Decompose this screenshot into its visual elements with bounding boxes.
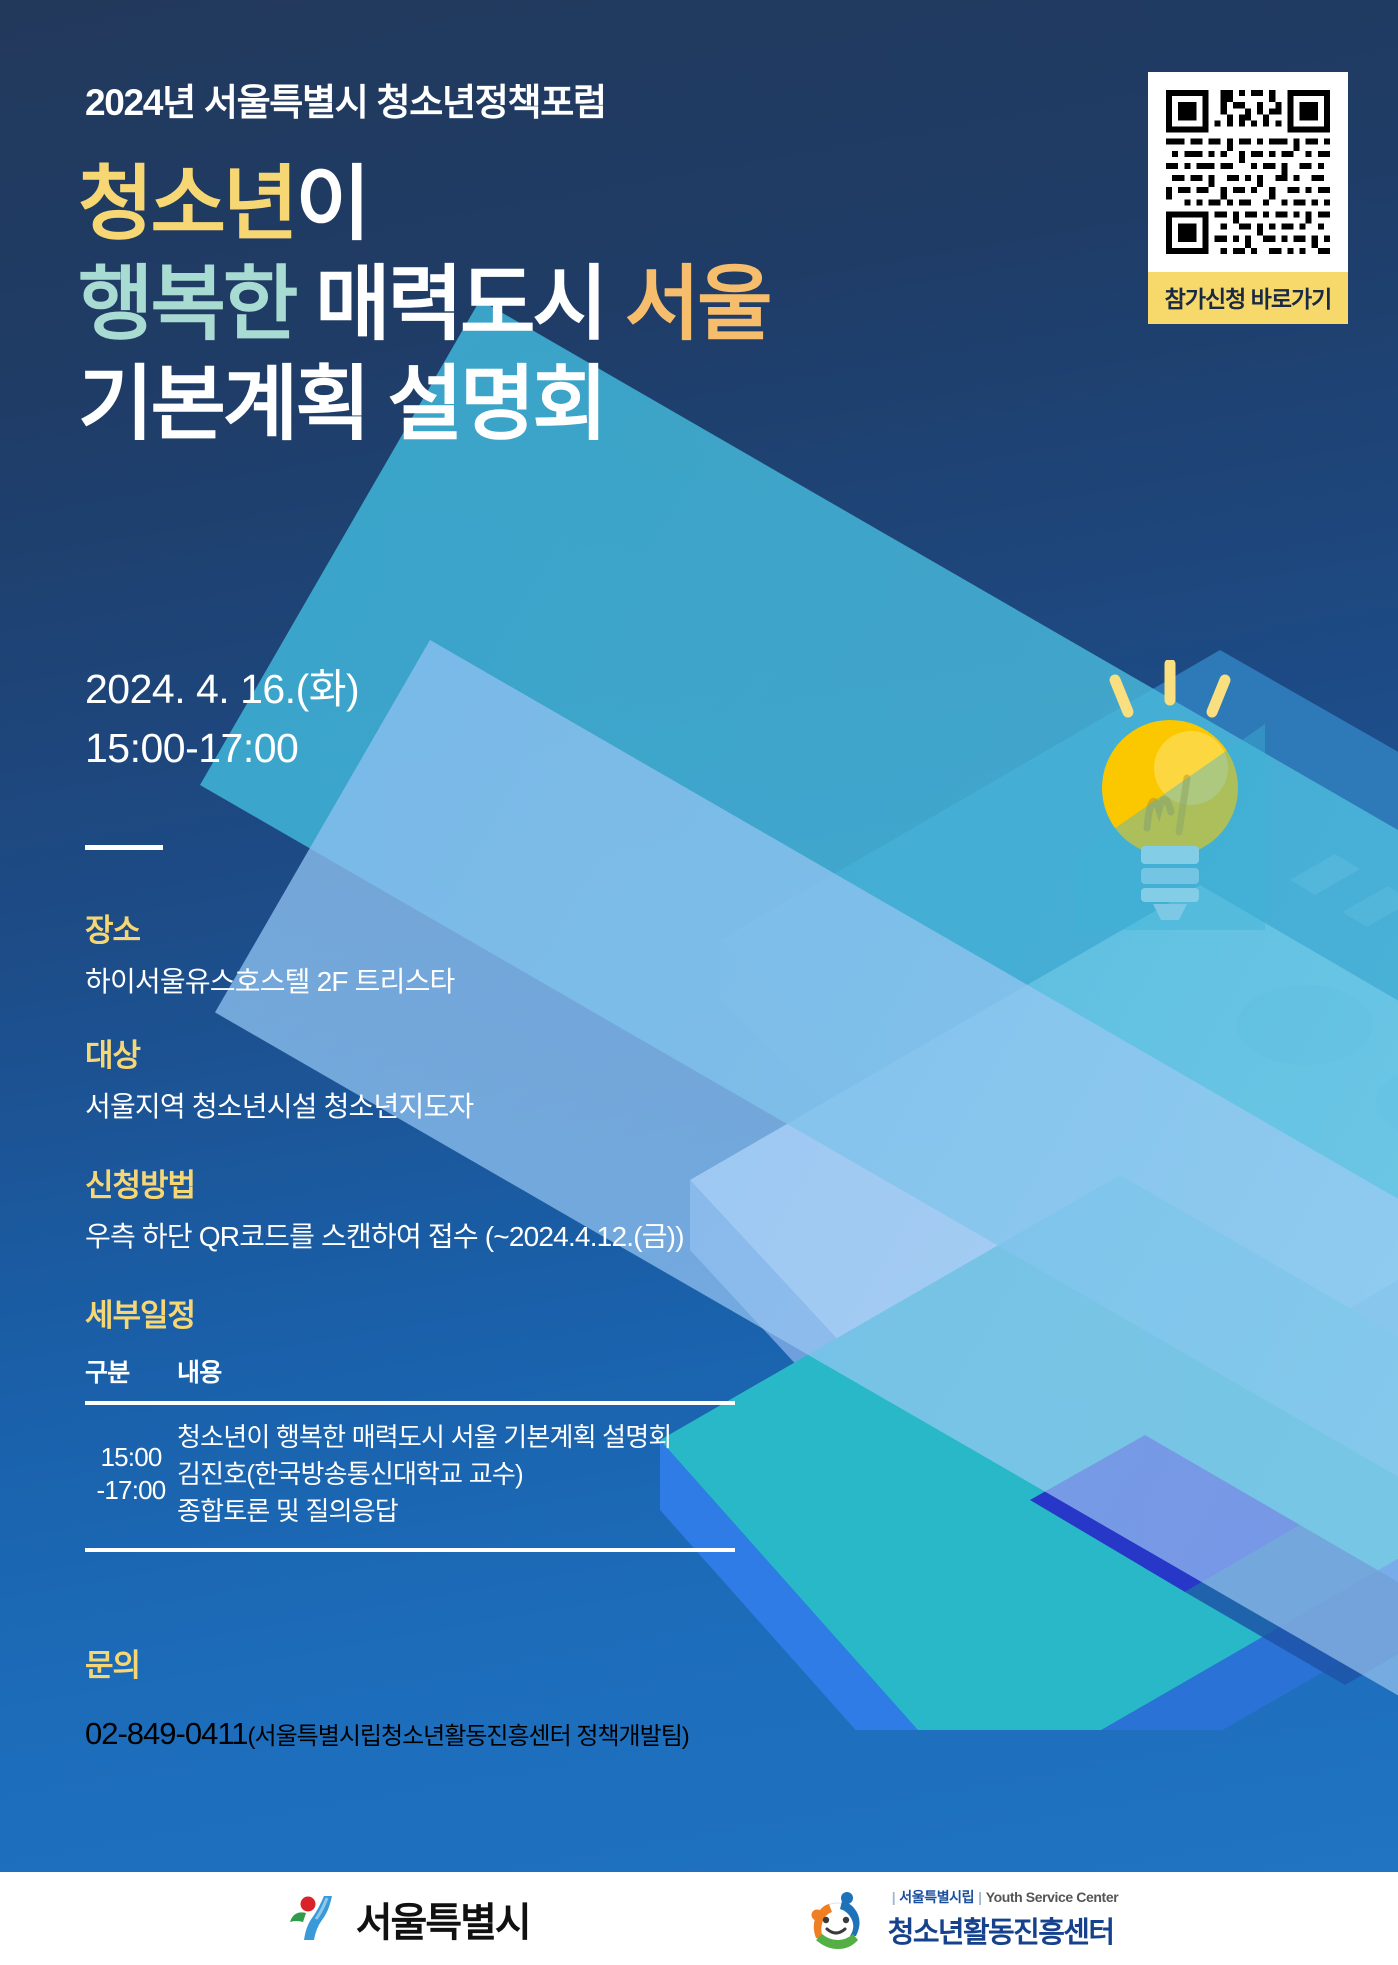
headline-line2-c: 서울 <box>625 259 770 350</box>
ysc-logo-main-text: 청소년활동진흥센터 <box>888 1909 1119 1951</box>
headline-line1-b: 이 <box>295 159 367 250</box>
headline-line-3: 기본계획 설명회 <box>78 355 1128 455</box>
table-cell-time-line1: 15:00 <box>85 1441 177 1475</box>
headline-line-2: 행복한 매력도시 서울 <box>78 255 1128 355</box>
section-target-body: 서울지역 청소년시설 청소년지도자 <box>85 1085 985 1125</box>
table-cell-content: 청소년이 행복한 매력도시 서울 기본계획 설명회 김진호(한국방송통신대학교 … <box>177 1403 735 1550</box>
section-place-body: 하이서울유스호스텔 2F 트리스타 <box>85 960 985 1000</box>
event-datetime: 2024. 4. 16.(화) 15:00-17:00 <box>85 660 359 779</box>
ysc-divider-right: | <box>978 1889 982 1905</box>
contact-org: (서울특별시립청소년활동진흥센터 정책개발팀) <box>248 1723 689 1750</box>
divider-rule <box>85 845 163 850</box>
table-header-row: 구분 내용 <box>85 1353 735 1403</box>
seoul-logo-mark-icon <box>280 1888 342 1950</box>
schedule-item: 김진호(한국방송통신대학교 교수) <box>177 1456 735 1493</box>
section-place-heading: 장소 <box>85 905 985 950</box>
headline-line1-a: 청소년 <box>78 159 295 250</box>
event-time: 15:00-17:00 <box>85 719 359 778</box>
section-place: 장소 하이서울유스호스텔 2F 트리스타 <box>85 905 985 1000</box>
headline-line-1: 청소년이 <box>78 155 1128 255</box>
section-apply: 신청방법 우측 하단 QR코드를 스캔하여 접수 (~2024.4.12.(금)… <box>85 1160 985 1255</box>
contact-phone: 02-849-0411 <box>85 1716 248 1751</box>
poster-canvas: 참가신청 바로가기 2024년 서울특별시 청소년정책포럼 청소년이 행복한 매… <box>0 0 1398 1965</box>
section-target: 대상 서울지역 청소년시설 청소년지도자 <box>85 1030 985 1125</box>
ysc-logo-top-line: |서울특별시립|Youth Service Center <box>888 1887 1119 1907</box>
table-col-header-division: 구분 <box>85 1353 177 1403</box>
seoul-logo-text: 서울특별시 <box>356 1890 530 1948</box>
section-apply-body: 우측 하단 QR코드를 스캔하여 접수 (~2024.4.12.(금)) <box>85 1215 985 1255</box>
table-cell-time: 15:00 -17:00 <box>85 1403 177 1550</box>
ysc-divider-left: | <box>892 1889 896 1905</box>
section-apply-heading: 신청방법 <box>85 1160 985 1205</box>
poster-content: 2024년 서울특별시 청소년정책포럼 청소년이 행복한 매력도시 서울 기본계… <box>0 0 1398 1872</box>
section-contact: 문의 02-849-0411(서울특별시립청소년활동진흥센터 정책개발팀) <box>85 1640 985 1783</box>
footer-bar: 서울특별시 |서울특별시립|Youth Service Center 청소년활동… <box>0 1872 1398 1965</box>
contact-line: 02-849-0411(서울특별시립청소년활동진흥센터 정책개발팀) <box>85 1716 985 1752</box>
section-target-heading: 대상 <box>85 1030 985 1075</box>
seoul-metropolitan-government-logo: 서울특별시 <box>280 1888 530 1950</box>
youth-service-center-logo: |서울특별시립|Youth Service Center 청소년활동진흥센터 <box>800 1886 1119 1952</box>
table-row: 15:00 -17:00 청소년이 행복한 매력도시 서울 기본계획 설명회 김… <box>85 1403 735 1550</box>
section-contact-heading: 문의 <box>85 1640 985 1685</box>
event-date: 2024. 4. 16.(화) <box>85 660 359 719</box>
schedule-table: 구분 내용 15:00 -17:00 청소년이 행복한 매력도시 서울 기본계획… <box>85 1353 735 1552</box>
section-schedule-heading: 세부일정 <box>85 1290 985 1335</box>
ysc-top-english: Youth Service Center <box>986 1889 1119 1905</box>
ysc-logo-text-block: |서울특별시립|Youth Service Center 청소년활동진흥센터 <box>888 1887 1119 1951</box>
section-schedule: 세부일정 구분 내용 15:00 -17:00 청소년이 <box>85 1290 985 1552</box>
ysc-logo-mark-icon <box>800 1886 874 1952</box>
schedule-item: 종합토론 및 질의응답 <box>177 1493 735 1530</box>
pretitle: 2024년 서울특별시 청소년정책포럼 <box>85 72 606 126</box>
headline-line2-a: 행복한 <box>78 259 295 350</box>
ysc-top-korean: 서울특별시립 <box>899 1889 974 1905</box>
schedule-item: 청소년이 행복한 매력도시 서울 기본계획 설명회 <box>177 1419 735 1456</box>
headline-line2-b: 매력도시 <box>315 259 605 350</box>
headline: 청소년이 행복한 매력도시 서울 기본계획 설명회 <box>78 155 1128 455</box>
table-col-header-content: 내용 <box>177 1353 735 1403</box>
table-cell-time-line2: -17:00 <box>85 1474 177 1508</box>
